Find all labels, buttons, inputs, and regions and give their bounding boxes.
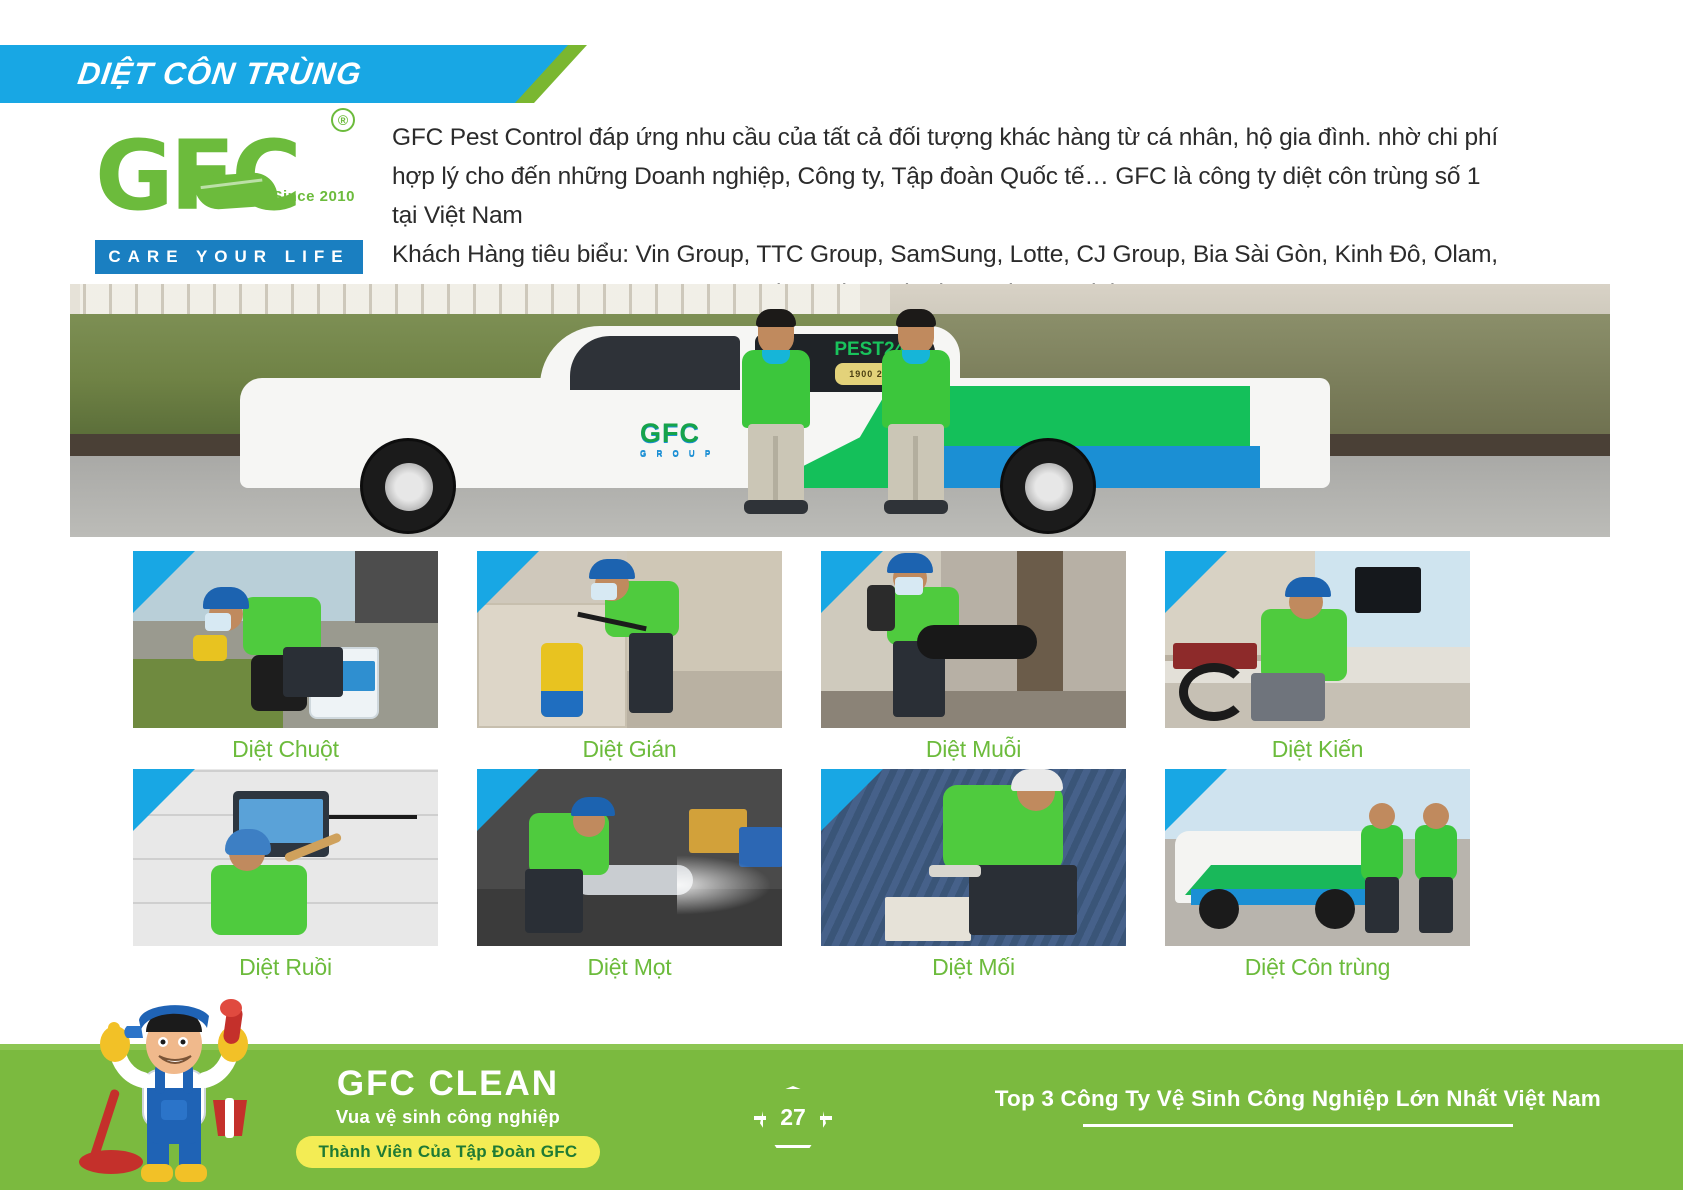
logo-since-text: Since 2010 bbox=[272, 188, 355, 205]
footer-tagline-block: Top 3 Công Ty Vệ Sinh Công Nghiệp Lớn Nh… bbox=[995, 1086, 1601, 1127]
service-grid: Diệt Chuột Diệt Gián bbox=[133, 551, 1443, 987]
intro-line-1: GFC Pest Control đáp ứng nhu cầu của tất… bbox=[392, 118, 1522, 157]
truck-windshield bbox=[570, 336, 740, 390]
scene-rat-control bbox=[133, 551, 438, 728]
scene-termite-control bbox=[821, 769, 1126, 946]
scene-cockroach-control bbox=[477, 551, 782, 728]
service-caption: Diệt Gián bbox=[477, 728, 782, 763]
footer-brand-block: GFC CLEAN Vua vệ sinh công nghiệp Thành … bbox=[238, 1064, 658, 1168]
staff-hair bbox=[896, 309, 936, 327]
registered-trademark-icon: ® bbox=[331, 108, 355, 132]
logo-mark: GFC ® Since 2010 bbox=[95, 112, 363, 240]
cleaner-mascot-icon bbox=[75, 992, 267, 1188]
staff-shoes bbox=[744, 500, 808, 514]
service-caption: Diệt Muỗi bbox=[821, 728, 1126, 763]
hero-staff-member-1 bbox=[730, 312, 822, 517]
intro-line-2: hợp lý cho đến những Doanh nghiệp, Công … bbox=[392, 157, 1522, 196]
truck-gfc-decal-sub: G R O U P bbox=[640, 449, 714, 458]
service-card-termite[interactable]: Diệt Mối bbox=[821, 769, 1126, 981]
service-card-woodworm[interactable]: Diệt Mọt bbox=[477, 769, 782, 981]
service-caption: Diệt Mối bbox=[821, 946, 1126, 981]
scene-ant-control bbox=[1165, 551, 1470, 728]
service-grid-row-2: Diệt Ruồi Diệt Mọt bbox=[133, 769, 1443, 981]
footer-tagline-underline bbox=[1083, 1124, 1513, 1127]
staff-pants bbox=[888, 424, 944, 504]
page-title: DIỆT CÔN TRÙNG bbox=[0, 56, 364, 92]
service-card-general-pest[interactable]: Diệt Côn trùng bbox=[1165, 769, 1470, 981]
hero-staff-member-2 bbox=[870, 312, 962, 517]
service-card-rat[interactable]: Diệt Chuột bbox=[133, 551, 438, 763]
service-caption: Diệt Chuột bbox=[133, 728, 438, 763]
page-number-hexagon: 27 bbox=[760, 1086, 826, 1148]
leaf-icon bbox=[194, 171, 278, 211]
intro-line-3: tại Việt Nam bbox=[392, 196, 1522, 235]
truck-front-wheel bbox=[360, 438, 456, 534]
page-header: DIỆT CÔN TRÙNG bbox=[0, 45, 640, 103]
truck-rear-wheel bbox=[1000, 438, 1096, 534]
page-number-text: 27 bbox=[763, 1086, 823, 1148]
staff-collar bbox=[902, 350, 930, 364]
service-thumbnail bbox=[1165, 551, 1470, 728]
staff-hair bbox=[756, 309, 796, 327]
page-dash-right-icon bbox=[820, 1116, 832, 1120]
service-thumbnail bbox=[821, 769, 1126, 946]
service-thumbnail bbox=[133, 769, 438, 946]
truck-gfc-decal: GFCG R O U P bbox=[640, 418, 714, 458]
service-thumbnail bbox=[477, 551, 782, 728]
service-thumbnail bbox=[477, 769, 782, 946]
staff-collar bbox=[762, 350, 790, 364]
service-card-fly[interactable]: Diệt Ruồi bbox=[133, 769, 438, 981]
service-caption: Diệt Kiến bbox=[1165, 728, 1470, 763]
scene-woodworm-control bbox=[477, 769, 782, 946]
footer-brand-subtitle: Vua vệ sinh công nghiệp bbox=[238, 1106, 658, 1128]
service-caption: Diệt Ruồi bbox=[133, 946, 438, 981]
page-number-badge: 27 bbox=[757, 1086, 829, 1152]
service-caption: Diệt Côn trùng bbox=[1165, 946, 1470, 981]
footer-tagline-text: Top 3 Công Ty Vệ Sinh Công Nghiệp Lớn Nh… bbox=[995, 1086, 1601, 1112]
service-thumbnail bbox=[1165, 769, 1470, 946]
scene-mosquito-control bbox=[821, 551, 1126, 728]
service-thumbnail bbox=[133, 551, 438, 728]
service-thumbnail bbox=[821, 551, 1126, 728]
service-card-mosquito[interactable]: Diệt Muỗi bbox=[821, 551, 1126, 763]
service-grid-row-1: Diệt Chuột Diệt Gián bbox=[133, 551, 1443, 763]
staff-shoes bbox=[884, 500, 948, 514]
scene-general-pest-control bbox=[1165, 769, 1470, 946]
service-card-ant[interactable]: Diệt Kiến bbox=[1165, 551, 1470, 763]
hero-photo-truck-and-staff: GFCG R O U P PEST247 1900 2045 bbox=[70, 284, 1610, 537]
footer-brand-title: GFC CLEAN bbox=[238, 1064, 658, 1104]
service-caption: Diệt Mọt bbox=[477, 946, 782, 981]
logo-tagline: CARE YOUR LIFE bbox=[95, 240, 363, 274]
intro-line-4: Khách Hàng tiêu biểu: Vin Group, TTC Gro… bbox=[392, 235, 1522, 274]
scene-fly-control bbox=[133, 769, 438, 946]
service-card-cockroach[interactable]: Diệt Gián bbox=[477, 551, 782, 763]
header-banner: DIỆT CÔN TRÙNG bbox=[0, 45, 575, 103]
footer-membership-badge: Thành Viên Của Tập Đoàn GFC bbox=[296, 1136, 599, 1168]
staff-pants bbox=[748, 424, 804, 504]
gfc-logo: GFC ® Since 2010 CARE YOUR LIFE bbox=[95, 112, 363, 277]
